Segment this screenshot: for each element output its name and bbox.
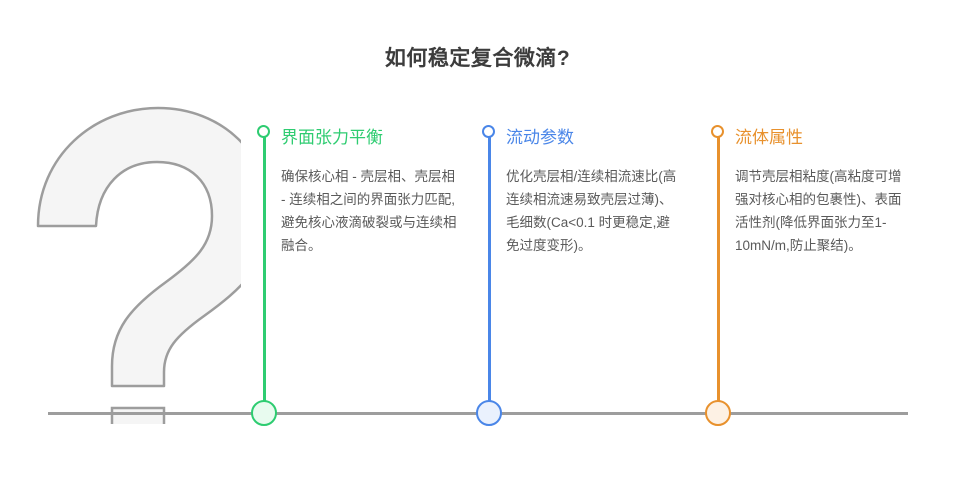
column-description: 优化壳层相/连续相流速比(高连续相流速易致壳层过薄)、毛细数(Ca<0.1 时更… <box>506 165 682 257</box>
timeline-top-marker-icon <box>257 125 270 138</box>
question-mark-icon <box>26 104 241 424</box>
column-description: 确保核心相 - 壳层相、壳层相 - 连续相之间的界面张力匹配,避免核心液滴破裂或… <box>281 165 457 257</box>
timeline-bottom-marker-icon <box>476 400 502 426</box>
timeline-top-marker-icon <box>482 125 495 138</box>
column-content: 流动参数 优化壳层相/连续相流速比(高连续相流速易致壳层过薄)、毛细数(Ca<0… <box>506 127 686 257</box>
column-content: 界面张力平衡 确保核心相 - 壳层相、壳层相 - 连续相之间的界面张力匹配,避免… <box>281 127 461 257</box>
timeline-top-marker-icon <box>711 125 724 138</box>
timeline-bottom-marker-icon <box>251 400 277 426</box>
column-heading: 界面张力平衡 <box>281 127 461 149</box>
timeline-bottom-marker-icon <box>705 400 731 426</box>
page-title: 如何稳定复合微滴? <box>0 42 955 72</box>
column-content: 流体属性 调节壳层相粘度(高粘度可增强对核心相的包裹性)、表面活性剂(降低界面张… <box>735 127 915 257</box>
timeline-stem <box>488 137 491 425</box>
timeline-stem <box>717 137 720 425</box>
infographic-canvas: 如何稳定复合微滴? 界面张力平衡 确保核心相 - 壳层相、壳层相 - 连续相之间… <box>0 0 955 495</box>
column-heading: 流动参数 <box>506 127 686 149</box>
timeline-stem <box>263 137 266 425</box>
column-description: 调节壳层相粘度(高粘度可增强对核心相的包裹性)、表面活性剂(降低界面张力至1-1… <box>735 165 911 257</box>
column-heading: 流体属性 <box>735 127 915 149</box>
